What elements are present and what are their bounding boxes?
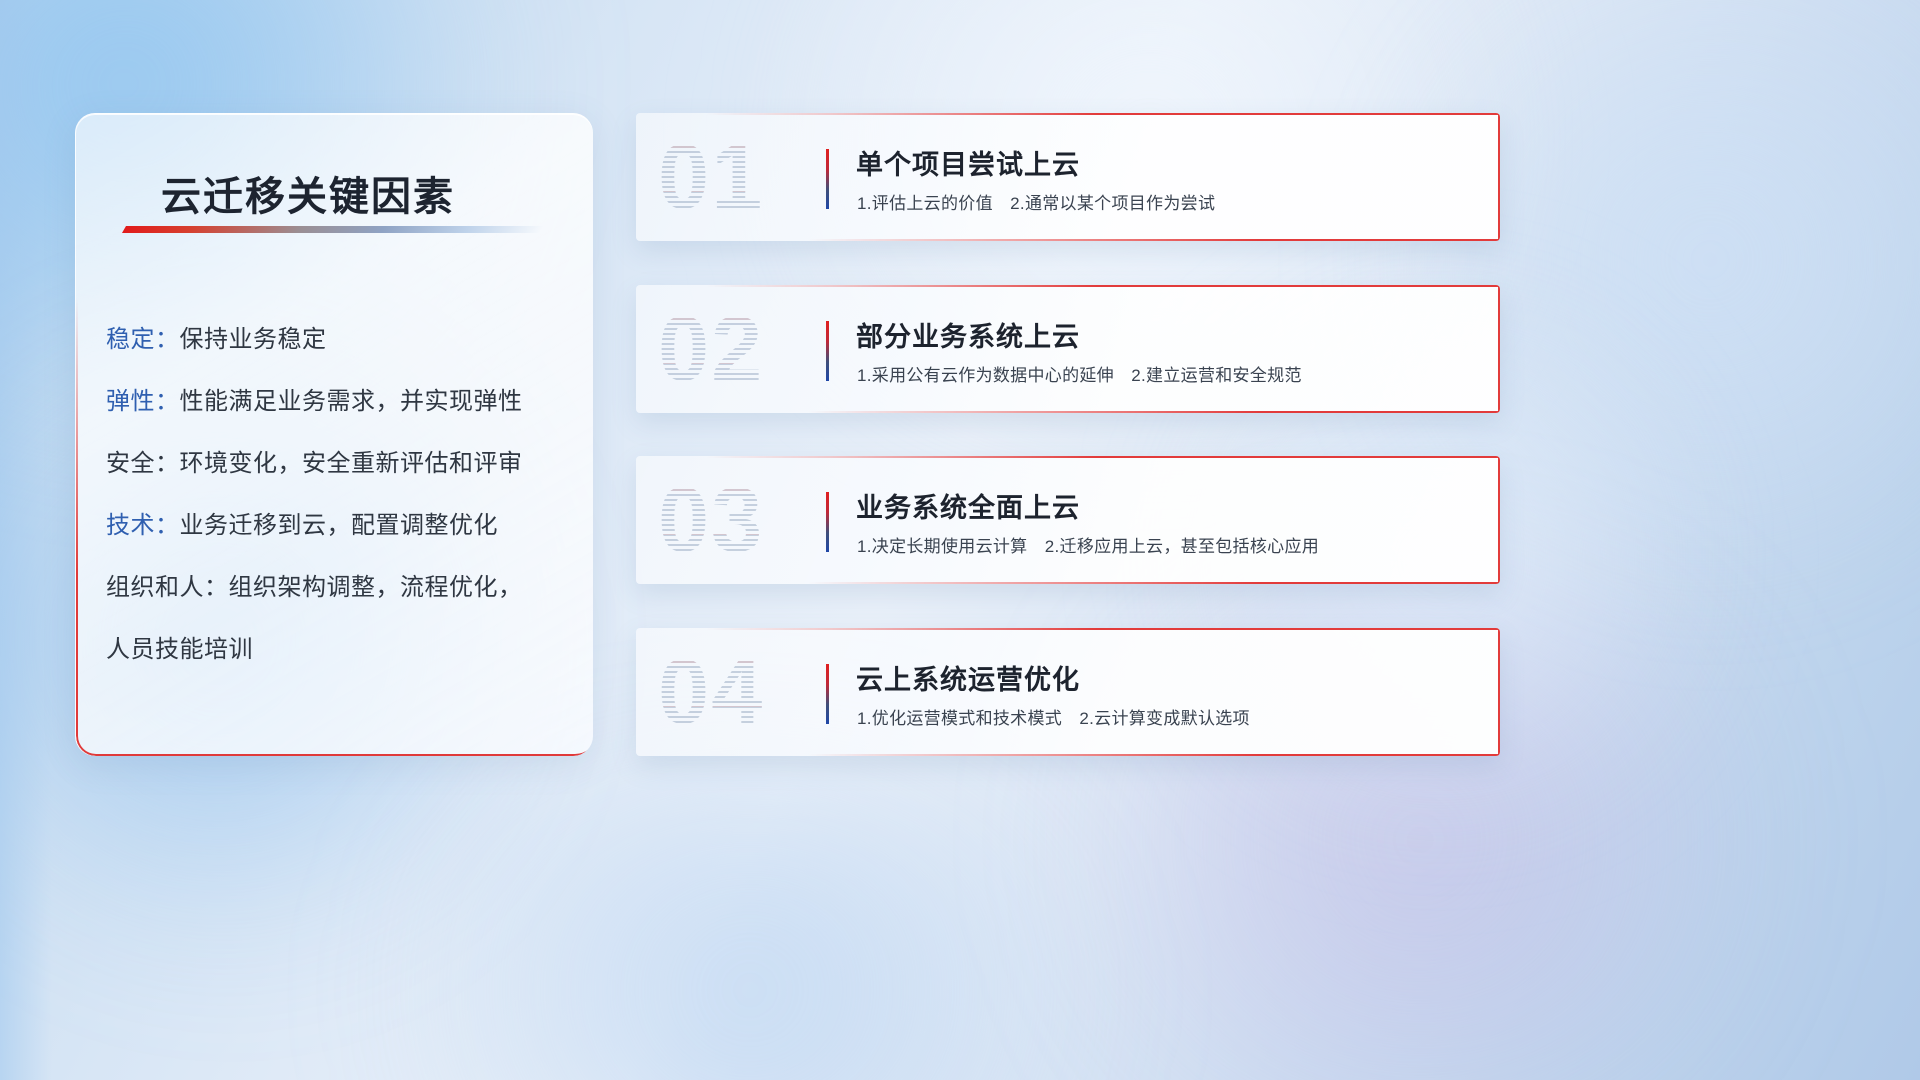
accent-divider: [826, 664, 829, 724]
list-item-label: 稳定：: [106, 326, 180, 353]
list-item-text: 组织架构调整，流程优化，: [229, 574, 523, 601]
page-title: 云迁移关键因素: [161, 164, 455, 222]
list-item-label: 安全：: [106, 450, 180, 477]
step-card[interactable]: 0101 单个项目尝试上云 1.评估上云的价值 2.通常以某个项目作为尝试: [636, 113, 1500, 241]
list-item-label: 技术：: [106, 512, 180, 539]
step-number-watermark: 0101: [658, 131, 764, 223]
step-card-description: 1.评估上云的价值 2.通常以某个项目作为尝试: [857, 189, 1215, 214]
accent-divider: [826, 149, 829, 209]
accent-divider: [826, 321, 829, 381]
background-left-stripe: [0, 0, 52, 1080]
list-item-text: 业务迁移到云，配置调整优化: [180, 512, 499, 539]
list-item-text: 人员技能培训: [106, 636, 253, 663]
list-item-text: 性能满足业务需求，并实现弹性: [180, 388, 523, 415]
step-card-description: 1.决定长期使用云计算 2.迁移应用上云，甚至包括核心应用: [857, 532, 1319, 557]
list-item: 组织和人：组织架构调整，流程优化，: [106, 557, 576, 619]
step-number-tint: 04: [658, 646, 764, 738]
list-item-text: 环境变化，安全重新评估和评审: [180, 450, 523, 477]
list-item: 弹性：性能满足业务需求，并实现弹性: [106, 371, 576, 433]
list-item: 安全：环境变化，安全重新评估和评审: [106, 433, 576, 495]
accent-divider: [826, 492, 829, 552]
list-item-label: 组织和人：: [106, 574, 229, 601]
step-card[interactable]: 0303 业务系统全面上云 1.决定长期使用云计算 2.迁移应用上云，甚至包括核…: [636, 456, 1500, 584]
step-number-watermark: 0404: [658, 646, 764, 738]
step-card[interactable]: 0404 云上系统运营优化 1.优化运营模式和技术模式 2.云计算变成默认选项: [636, 628, 1500, 756]
list-item-text: 保持业务稳定: [180, 326, 327, 353]
step-card-title: 业务系统全面上云: [856, 486, 1080, 525]
step-number-watermark: 0202: [658, 303, 764, 395]
step-card-title: 云上系统运营优化: [856, 658, 1080, 697]
list-item: 人员技能培训: [106, 619, 576, 681]
step-card-title: 部分业务系统上云: [856, 315, 1080, 354]
step-card-title: 单个项目尝试上云: [856, 143, 1080, 182]
key-factors-list: 稳定：保持业务稳定 弹性：性能满足业务需求，并实现弹性 安全：环境变化，安全重新…: [106, 309, 576, 681]
step-card[interactable]: 0202 部分业务系统上云 1.采用公有云作为数据中心的延伸 2.建立运营和安全…: [636, 285, 1500, 413]
step-number-tint: 02: [658, 303, 764, 395]
title-underline-accent: [122, 226, 544, 233]
list-item-label: 弹性：: [106, 388, 180, 415]
step-number-watermark: 0303: [658, 474, 764, 566]
step-number-tint: 01: [658, 131, 764, 223]
step-card-description: 1.优化运营模式和技术模式 2.云计算变成默认选项: [857, 704, 1250, 729]
list-item: 技术：业务迁移到云，配置调整优化: [106, 495, 576, 557]
key-factors-panel: 云迁移关键因素 稳定：保持业务稳定 弹性：性能满足业务需求，并实现弹性 安全：环…: [75, 113, 593, 756]
step-number-tint: 03: [658, 474, 764, 566]
step-card-description: 1.采用公有云作为数据中心的延伸 2.建立运营和安全规范: [857, 361, 1302, 386]
list-item: 稳定：保持业务稳定: [106, 309, 576, 371]
